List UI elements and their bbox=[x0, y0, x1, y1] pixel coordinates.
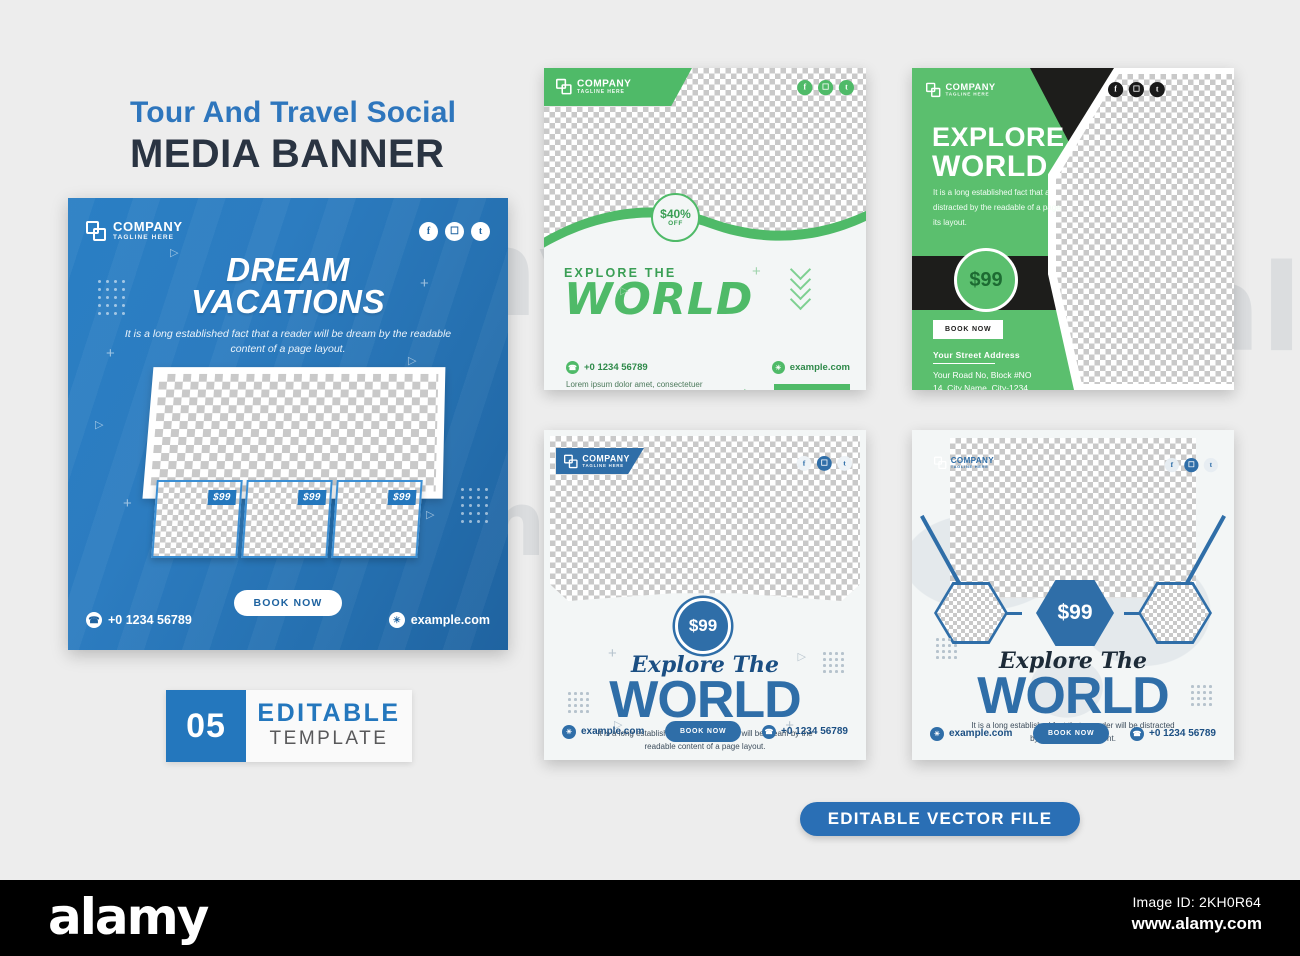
triangle-decoration: ▷ bbox=[95, 420, 103, 431]
social-links[interactable]: f ☐ t bbox=[1108, 82, 1165, 97]
hex-connector bbox=[1124, 612, 1140, 615]
book-now-button[interactable]: BOOK NOW bbox=[234, 590, 343, 616]
vector-badge-label: EDITABLE VECTOR FILE bbox=[828, 809, 1053, 829]
dot-grid-decoration bbox=[936, 638, 957, 659]
template-card-3[interactable]: COMPANY TAGLINE HERE f ☐ t $99 Explore T… bbox=[544, 430, 866, 760]
address-heading: Your Street Address bbox=[933, 350, 1031, 360]
alamy-footer: alamy Image ID: 2KH0R64 www.alamy.com bbox=[0, 880, 1300, 956]
phone-icon: ☎ bbox=[762, 725, 776, 739]
card3-title: WORLD bbox=[544, 678, 866, 724]
price-badge: $99 bbox=[954, 248, 1018, 312]
price-tag: $99 bbox=[387, 490, 416, 505]
artwork-canvas: alamy alamy alamy Tour And Travel Social… bbox=[0, 0, 1300, 880]
phone-icon: ☎ bbox=[566, 361, 579, 374]
discount-badge: $40% OFF bbox=[651, 193, 700, 242]
instagram-icon[interactable]: ☐ bbox=[817, 456, 832, 471]
dot-grid-decoration bbox=[1191, 685, 1212, 706]
phone-icon: ☎ bbox=[86, 612, 102, 628]
card1-heading: EXPLORE THE WORLD bbox=[564, 266, 753, 320]
instagram-icon[interactable]: ☐ bbox=[445, 222, 464, 241]
social-links[interactable]: f ☐ t bbox=[1165, 458, 1218, 472]
company-tagline: TAGLINE HERE bbox=[582, 463, 629, 470]
company-logo-icon bbox=[926, 83, 940, 97]
book-now-button[interactable]: BOOK NOW bbox=[933, 320, 1003, 339]
facebook-icon[interactable]: f bbox=[797, 456, 812, 471]
hex-frame-right bbox=[1138, 582, 1212, 644]
card4-heading: Explore The WORLD bbox=[912, 648, 1234, 720]
banner-title-line-1: DREAM bbox=[68, 254, 508, 286]
company-logo-icon bbox=[564, 455, 578, 469]
twitter-icon[interactable]: t bbox=[1150, 82, 1165, 97]
dot-grid-decoration bbox=[568, 692, 589, 713]
company-name: COMPANY bbox=[945, 82, 995, 91]
triangle-decoration: ▷ bbox=[620, 286, 628, 297]
dot-grid-decoration bbox=[823, 652, 844, 673]
chevron-down-icon bbox=[793, 268, 808, 307]
price-tag: $99 bbox=[207, 490, 236, 505]
brand-logo: COMPANY TAGLINE HERE bbox=[934, 456, 994, 470]
dot-grid-decoration bbox=[461, 488, 488, 523]
card1-title: WORLD bbox=[564, 280, 753, 320]
price-value: $99 bbox=[969, 269, 1002, 292]
book-now-button[interactable]: BOOK NOW bbox=[1033, 723, 1109, 744]
template-number: 05 bbox=[166, 690, 246, 762]
template-card-1[interactable]: COMPANY TAGLINE HERE f ☐ t $40% OFF EXPL… bbox=[544, 68, 866, 390]
website-url: example.com bbox=[581, 726, 644, 737]
template-label: TEMPLATE bbox=[270, 726, 389, 752]
book-now-button[interactable]: BOOK NOW bbox=[774, 384, 850, 390]
template-card-2[interactable]: COMPANY TAGLINE HERE f ☐ t EXPLORE WORLD… bbox=[912, 68, 1234, 390]
address-line-1: Your Road No, Block #NO bbox=[933, 369, 1031, 381]
image-placeholder-hex-right[interactable] bbox=[1141, 585, 1209, 641]
editable-label: EDITABLE bbox=[257, 701, 400, 726]
website-url: example.com bbox=[949, 728, 1012, 739]
card2-title-line-2: WORLD bbox=[932, 151, 1092, 183]
phone-number: +0 1234 56789 bbox=[108, 613, 192, 627]
company-name: COMPANY bbox=[113, 220, 183, 233]
alamy-logo: alamy bbox=[48, 892, 207, 942]
headline-line-2: MEDIA BANNER bbox=[130, 131, 550, 177]
phone-contact[interactable]: ☎ +0 1234 56789 bbox=[762, 725, 848, 739]
main-banner: COMPANY TAGLINE HERE f ☐ t + + ▷ ▷ ▷ ▷ +… bbox=[68, 198, 508, 650]
twitter-icon[interactable]: t bbox=[837, 456, 852, 471]
editable-template-badge: 05 EDITABLE TEMPLATE bbox=[166, 690, 412, 762]
phone-contact[interactable]: ☎ +0 1234 56789 bbox=[1130, 727, 1216, 741]
page-title: Tour And Travel Social MEDIA BANNER bbox=[130, 96, 550, 177]
card2-title-line-1: EXPLORE bbox=[932, 124, 1092, 151]
company-logo-icon bbox=[556, 79, 572, 95]
social-links[interactable]: f ☐ t bbox=[797, 456, 852, 471]
globe-icon: ☀ bbox=[389, 612, 405, 628]
price-tag: $99 bbox=[297, 490, 326, 505]
company-logo-icon bbox=[86, 221, 106, 241]
phone-number: +0 1234 56789 bbox=[584, 362, 648, 373]
twitter-icon[interactable]: t bbox=[471, 222, 490, 241]
company-logo-icon bbox=[934, 457, 946, 469]
address-block: Your Street Address Your Road No, Block … bbox=[933, 350, 1031, 390]
triangle-decoration: ▷ bbox=[408, 356, 416, 367]
book-now-button[interactable]: BOOK NOW bbox=[665, 721, 741, 742]
triangle-decoration: ▷ bbox=[426, 510, 434, 521]
website-contact[interactable]: ☀ example.com bbox=[389, 612, 490, 628]
editable-vector-file-badge: EDITABLE VECTOR FILE bbox=[800, 802, 1080, 836]
company-name: COMPANY bbox=[951, 456, 994, 464]
instagram-icon[interactable]: ☐ bbox=[1129, 82, 1144, 97]
template-card-4[interactable]: COMPANY TAGLINE HERE f ☐ t $99 Explore T… bbox=[912, 430, 1234, 760]
company-name: COMPANY bbox=[582, 454, 629, 463]
website-url: example.com bbox=[411, 613, 490, 627]
card2-body-text: It is a long established fact that a dis… bbox=[933, 186, 1063, 230]
facebook-icon[interactable]: f bbox=[1165, 458, 1179, 472]
card3-heading: Explore The WORLD bbox=[544, 652, 866, 724]
twitter-icon[interactable]: t bbox=[839, 80, 854, 95]
card4-title: WORLD bbox=[912, 674, 1234, 720]
hex-frame-left bbox=[934, 582, 1008, 644]
website-contact[interactable]: ☀ example.com bbox=[562, 725, 644, 739]
price-badge: $99 bbox=[675, 598, 731, 654]
facebook-icon[interactable]: f bbox=[797, 80, 812, 95]
image-placeholder-hex-left[interactable] bbox=[937, 585, 1005, 641]
triangle-decoration: ▷ bbox=[798, 652, 806, 663]
banner-title-line-2: VACATIONS bbox=[68, 286, 508, 318]
price-badge: $99 bbox=[1036, 580, 1114, 646]
globe-icon: ☀ bbox=[562, 725, 576, 739]
address-line-2: 14, City Name, City-1234 bbox=[933, 382, 1031, 390]
company-tagline: TAGLINE HERE bbox=[951, 464, 994, 470]
brand-logo: COMPANY TAGLINE HERE bbox=[556, 78, 631, 96]
phone-icon: ☎ bbox=[1130, 727, 1144, 741]
hexagon-row: $99 bbox=[934, 582, 1212, 644]
brand-logo: COMPANY TAGLINE HERE bbox=[564, 454, 630, 469]
headline-line-1: Tour And Travel Social bbox=[130, 96, 550, 129]
card2-heading: EXPLORE WORLD bbox=[932, 124, 1092, 183]
globe-icon: ☀ bbox=[930, 727, 944, 741]
twitter-icon[interactable]: t bbox=[1204, 458, 1218, 472]
plus-decoration: + bbox=[752, 264, 761, 279]
plus-decoration: + bbox=[123, 496, 132, 511]
phone-contact[interactable]: ☎ +0 1234 56789 bbox=[86, 612, 192, 628]
plus-decoration: + bbox=[608, 646, 617, 661]
facebook-icon[interactable]: f bbox=[419, 222, 438, 241]
instagram-icon[interactable]: ☐ bbox=[1184, 458, 1198, 472]
facebook-icon[interactable]: f bbox=[1108, 82, 1123, 97]
discount-label: OFF bbox=[668, 220, 683, 227]
company-tagline: TAGLINE HERE bbox=[945, 91, 995, 98]
phone-number: +0 1234 56789 bbox=[781, 726, 848, 737]
divider bbox=[933, 363, 995, 364]
discount-value: $40% bbox=[660, 208, 691, 220]
hex-connector bbox=[1006, 612, 1022, 615]
company-tagline: TAGLINE HERE bbox=[113, 233, 183, 243]
phone-contact[interactable]: ☎ +0 1234 56789 bbox=[566, 361, 648, 374]
social-links[interactable]: f ☐ t bbox=[797, 80, 854, 95]
banner-heading: DREAM VACATIONS It is a long established… bbox=[68, 254, 508, 357]
banner-subtitle: It is a long established fact that a rea… bbox=[68, 327, 508, 357]
alamy-website: www.alamy.com bbox=[1132, 914, 1262, 934]
website-url: example.com bbox=[790, 362, 850, 373]
brand-logo: COMPANY TAGLINE HERE bbox=[926, 82, 996, 98]
phone-number: +0 1234 56789 bbox=[1149, 728, 1216, 739]
company-name: COMPANY bbox=[577, 78, 631, 88]
image-placeholder-main[interactable] bbox=[142, 367, 445, 499]
brand-logo: COMPANY TAGLINE HERE bbox=[86, 220, 183, 243]
website-contact[interactable]: ☀ example.com bbox=[772, 361, 850, 374]
price-value: $99 bbox=[1057, 601, 1092, 625]
globe-icon: ☀ bbox=[772, 361, 785, 374]
price-value: $99 bbox=[689, 616, 717, 636]
website-contact[interactable]: ☀ example.com bbox=[930, 727, 1012, 741]
triangle-decoration: ▷ bbox=[744, 388, 752, 390]
social-links[interactable]: f ☐ t bbox=[419, 222, 490, 241]
image-id: Image ID: 2KH0R64 bbox=[1132, 894, 1262, 910]
instagram-icon[interactable]: ☐ bbox=[818, 80, 833, 95]
company-tagline: TAGLINE HERE bbox=[577, 88, 631, 96]
card1-body-text: Lorem ipsum dolor amet, consectetuer adi… bbox=[566, 378, 726, 390]
